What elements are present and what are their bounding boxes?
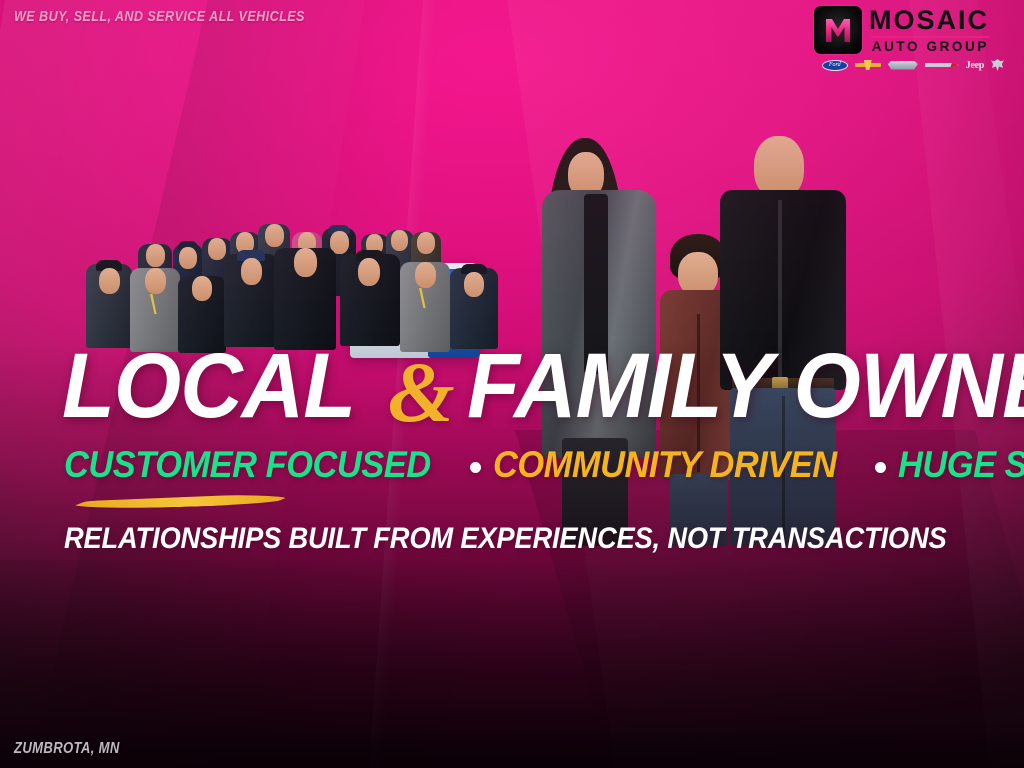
chrysler-logo (888, 59, 918, 72)
dodge-logo (925, 59, 959, 72)
logo-divider-rule (871, 36, 989, 38)
ram-logo (991, 59, 1004, 72)
headline-word-local: LOCAL (62, 347, 355, 426)
brand-logo-strip: Ford Jeep (814, 58, 1006, 72)
tagline-text: RELATIONSHIPS BUILT FROM EXPERIENCES, NO… (64, 522, 947, 556)
subline-bullet-dot (470, 462, 481, 473)
logo-word-auto-group: AUTO GROUP (869, 40, 989, 54)
mosaic-auto-group-logo[interactable]: MOSAIC AUTO GROUP Ford Jeep (814, 6, 1006, 76)
subline: CUSTOMER FOCUSED COMMUNITY DRIVEN HUGE S… (64, 444, 984, 486)
kicker-text: WE BUY, SELL, AND SERVICE ALL VEHICLES (14, 8, 305, 25)
headline-word-family-owned: FAMILY OWNED (467, 347, 1024, 426)
promo-banner: FORD MOBILE SERVICE (0, 0, 1024, 768)
subline-bullet-dot (875, 462, 886, 473)
headline: LOCAL & FAMILY OWNED (62, 338, 992, 424)
subline-community-driven: COMMUNITY DRIVEN (493, 444, 837, 486)
headline-ampersand: & (388, 342, 455, 442)
logo-wordmark: MOSAIC AUTO GROUP (869, 7, 989, 54)
logo-main-row: MOSAIC AUTO GROUP (814, 6, 1006, 54)
ford-logo: Ford (822, 59, 848, 72)
jeep-logo: Jeep (966, 59, 984, 72)
chevrolet-logo (855, 59, 881, 72)
subline-huge-selection: HUGE SELECTION (898, 444, 1024, 486)
location-text: ZUMBROTA, MN (14, 740, 120, 758)
logo-word-mosaic: MOSAIC (869, 7, 989, 34)
mosaic-m-icon (814, 6, 862, 54)
subline-customer-focused: CUSTOMER FOCUSED (64, 444, 431, 486)
